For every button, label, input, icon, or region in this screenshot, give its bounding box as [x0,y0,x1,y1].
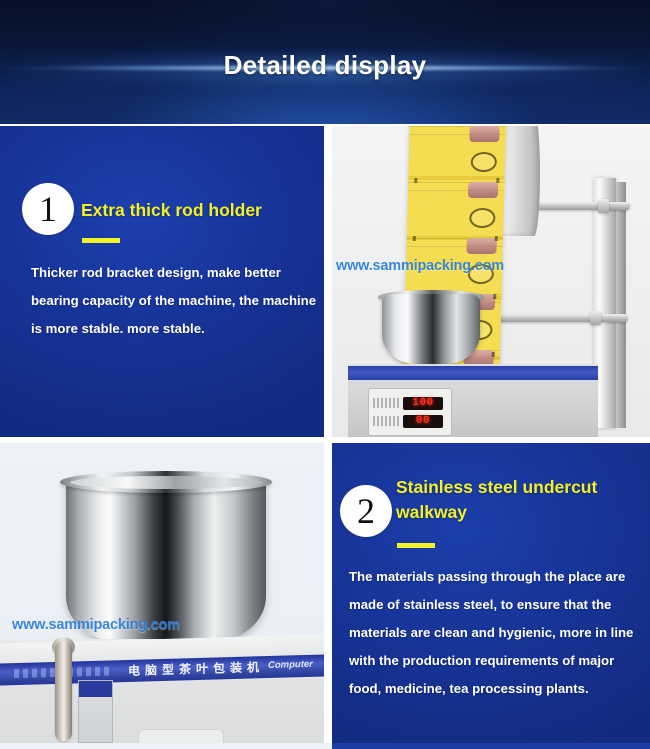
hopper-inner-opening [70,476,262,489]
stainless-hopper-small [382,294,480,364]
machine-side-panel [78,680,113,743]
machine-vertical-post-shadow [616,182,626,428]
control-label-upper [373,398,399,408]
feature-number-badge-1: 1 [22,183,74,235]
bottom-edge-strip-right [332,743,650,749]
rod-collar-lower [590,311,601,325]
feature-title-2: Stainless steel undercut walkway [396,475,626,525]
watermark-top-right: www.sammipacking.com [336,258,504,274]
machine-bottom-tray [138,729,224,743]
title-underline-1 [82,238,120,243]
rod-collar-upper [598,199,609,213]
feature-body-1: Thicker rod bracket design, make better … [31,259,323,343]
page-title: Detailed display [0,50,650,81]
machine-side-panel-header [79,681,112,697]
control-panel[interactable]: 100 00 [368,388,452,436]
led-display-lower: 00 [403,415,443,428]
title-underline-2 [397,543,435,548]
feature-title-1: Extra thick rod holder [81,198,316,223]
bottom-edge-strip [0,743,650,749]
photo-film-roll-machine: 100 00 [332,126,650,437]
led-display-upper: 100 [403,397,443,410]
feature-number-badge-2: 2 [340,485,392,537]
machine-blue-band-upper [348,366,598,380]
header-banner: Detailed display [0,0,650,124]
watermark-bottom-left: www.sammipacking.com [12,617,180,633]
photo-background: 100 00 [332,126,650,437]
band-english-text: Computer [268,659,313,671]
machine-handle [55,641,72,741]
control-label-lower [373,416,399,426]
photo-background-2: 电脑型茶叶包装机 Computer [0,443,324,743]
band-chinese-text: 电脑型茶叶包装机 [128,658,264,679]
feature-body-2: The materials passing through the place … [349,563,647,703]
photo-stainless-hopper: 电脑型茶叶包装机 Computer [0,443,324,743]
